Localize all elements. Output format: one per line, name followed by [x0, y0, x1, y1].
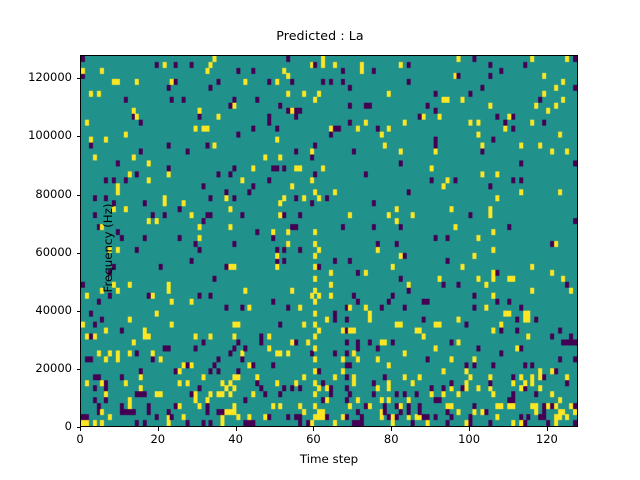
x-tick-mark [80, 427, 81, 431]
y-tick-mark [77, 136, 81, 137]
x-tick-label: 120 [536, 432, 558, 446]
x-tick-label: 0 [76, 432, 83, 446]
chart-title: Predicted : La [0, 28, 640, 43]
y-axis-label: Frequency (Hz) [101, 62, 115, 434]
y-tick-mark [77, 195, 81, 196]
x-tick-label: 80 [384, 432, 399, 446]
x-tick-mark [158, 427, 159, 431]
heatmap-image [81, 56, 577, 426]
x-tick-label: 60 [306, 432, 321, 446]
x-tick-label: 100 [458, 432, 480, 446]
y-tick-mark [77, 369, 81, 370]
x-axis-label: Time step [80, 452, 578, 466]
y-tick-mark [77, 253, 81, 254]
matplotlib-figure: Predicted : La 020406080100120 020000400… [0, 0, 640, 480]
y-tick-mark [77, 78, 81, 79]
x-tick-mark [547, 427, 548, 431]
heatmap-axes[interactable] [80, 55, 578, 427]
y-tick-mark [77, 427, 81, 428]
x-tick-label: 40 [228, 432, 243, 446]
x-tick-mark [469, 427, 470, 431]
x-tick-mark [391, 427, 392, 431]
x-tick-label: 20 [150, 432, 165, 446]
x-tick-mark [313, 427, 314, 431]
x-tick-mark [236, 427, 237, 431]
y-tick-mark [77, 311, 81, 312]
